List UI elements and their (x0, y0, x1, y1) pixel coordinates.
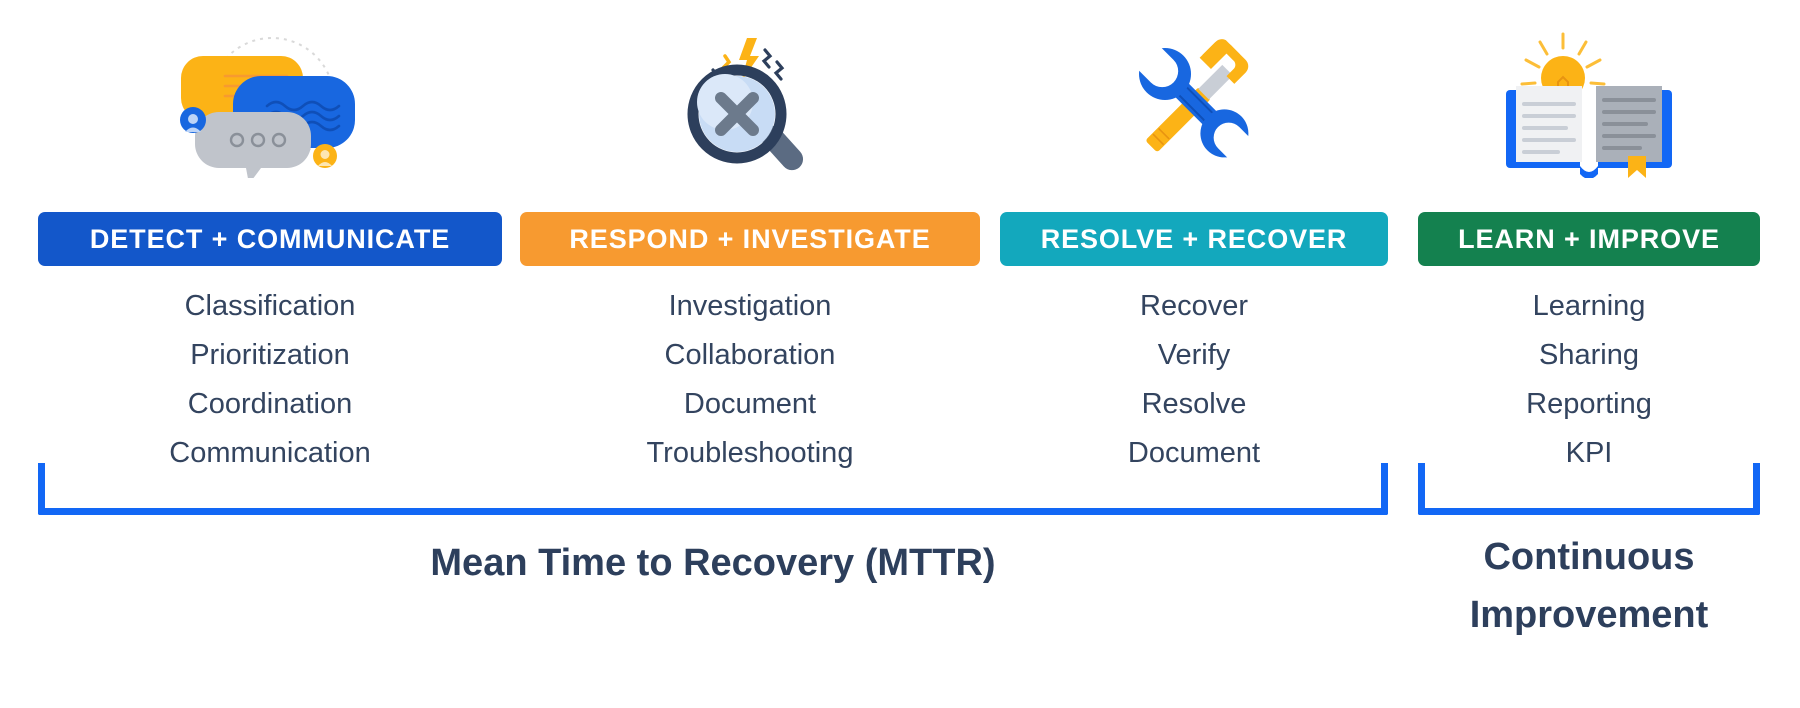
list-item: Recover (1140, 282, 1248, 331)
list-item: Resolve (1142, 380, 1247, 429)
list-item: Prioritization (190, 331, 350, 380)
continuous-improvement-caption-line1: Continuous (1408, 528, 1770, 586)
book-lightbulb-icon (1418, 28, 1760, 178)
item-list-detect-communicate: Classification Prioritization Coordinati… (38, 282, 502, 478)
header-label: LEARN + IMPROVE (1458, 224, 1720, 255)
header-label: DETECT + COMMUNICATE (90, 224, 450, 255)
header-label: RESPOND + INVESTIGATE (569, 224, 930, 255)
header-respond-investigate[interactable]: RESPOND + INVESTIGATE (520, 212, 980, 266)
incident-lifecycle-diagram: DETECT + COMMUNICATE Classification Prio… (0, 0, 1800, 708)
header-label: RESOLVE + RECOVER (1041, 224, 1348, 255)
header-learn-improve[interactable]: LEARN + IMPROVE (1418, 212, 1760, 266)
item-list-resolve-recover: Recover Verify Resolve Document (1000, 282, 1388, 478)
list-item: Coordination (188, 380, 352, 429)
continuous-improvement-caption: Continuous Improvement (1408, 528, 1770, 644)
list-item: Classification (185, 282, 356, 331)
header-detect-communicate[interactable]: DETECT + COMMUNICATE (38, 212, 502, 266)
list-item: Collaboration (665, 331, 836, 380)
list-item: Verify (1158, 331, 1231, 380)
list-item: Document (684, 380, 816, 429)
item-list-learn-improve: Learning Sharing Reporting KPI (1418, 282, 1760, 478)
mttr-bracket (38, 463, 1388, 515)
list-item: Reporting (1526, 380, 1652, 429)
hammer-wrench-icon (1000, 28, 1388, 178)
item-list-respond-investigate: Investigation Collaboration Document Tro… (520, 282, 980, 478)
magnifier-error-icon (520, 28, 980, 178)
mttr-caption-text: Mean Time to Recovery (MTTR) (430, 542, 995, 584)
header-resolve-recover[interactable]: RESOLVE + RECOVER (1000, 212, 1388, 266)
list-item: Investigation (669, 282, 832, 331)
continuous-improvement-bracket (1418, 463, 1760, 515)
mttr-caption: Mean Time to Recovery (MTTR) (38, 534, 1388, 592)
continuous-improvement-caption-line2: Improvement (1408, 586, 1770, 644)
list-item: Sharing (1539, 331, 1639, 380)
list-item: Learning (1533, 282, 1646, 331)
speech-bubbles-icon (38, 28, 502, 178)
